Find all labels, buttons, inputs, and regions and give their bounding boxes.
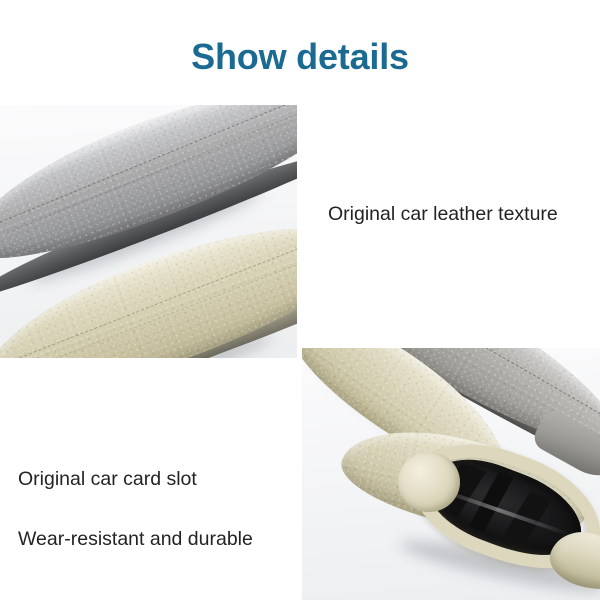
page-title: Show details bbox=[0, 36, 600, 78]
caption-card-slot-line2: Wear-resistant and durable bbox=[18, 524, 290, 554]
product-detail-page: Show details Original car leather textur… bbox=[0, 0, 600, 600]
product-photo-card-slot bbox=[302, 348, 600, 600]
caption-card-slot-line1: Original car card slot bbox=[18, 464, 290, 494]
caption-leather-texture: Original car leather texture bbox=[328, 199, 590, 229]
caption-card-slot: Original car card slot Wear-resistant an… bbox=[18, 434, 290, 584]
beige-cover-knob bbox=[398, 452, 460, 512]
product-photo-leather-texture bbox=[0, 105, 297, 358]
